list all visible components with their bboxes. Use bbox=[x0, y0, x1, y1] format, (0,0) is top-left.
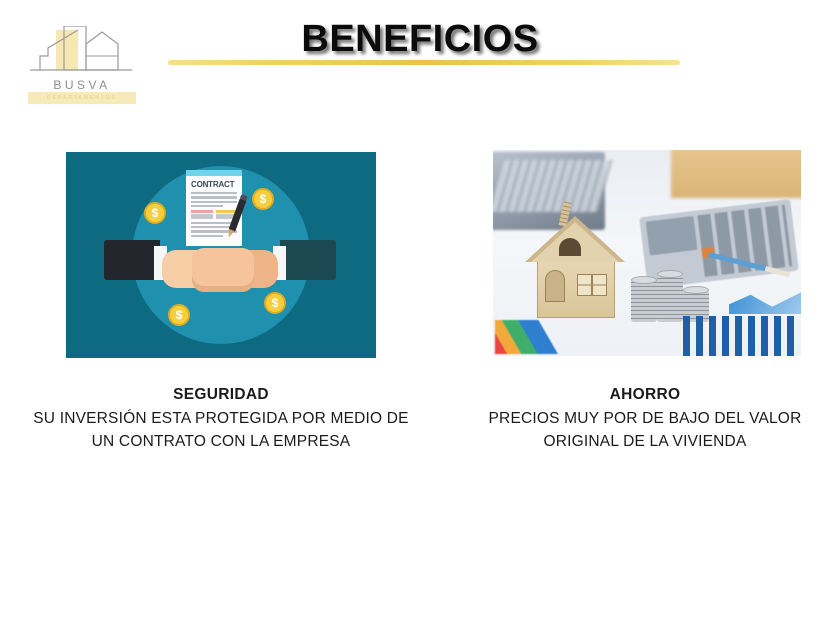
model-house-icon bbox=[525, 208, 625, 320]
coin-stack bbox=[657, 274, 683, 322]
title-underline-rule bbox=[168, 60, 680, 65]
contract-field-row bbox=[191, 210, 237, 218]
contract-document-label: CONTRACT bbox=[191, 180, 237, 189]
seguridad-heading: SEGURIDAD bbox=[28, 386, 414, 404]
wood-board bbox=[671, 150, 801, 198]
colored-chart-paper bbox=[495, 320, 577, 354]
page-title: BENEFICIOS bbox=[0, 18, 840, 61]
logo-wordmark: BUSVA bbox=[22, 78, 142, 92]
seguridad-body: SU INVERSIÓN ESTA PROTEGIDA POR MEDIO DE… bbox=[28, 408, 414, 454]
contract-field bbox=[191, 210, 213, 218]
coin-stack bbox=[631, 280, 657, 322]
contract-text-line bbox=[191, 201, 237, 203]
seguridad-caption: SEGURIDAD SU INVERSIÓN ESTA PROTEGIDA PO… bbox=[28, 386, 414, 454]
logo-tagline: DEPARTAMENTOS bbox=[28, 92, 136, 104]
dollar-coin-icon: $ bbox=[144, 202, 166, 224]
dollar-coin-icon: $ bbox=[264, 292, 286, 314]
dollar-coin-icon: $ bbox=[168, 304, 190, 326]
contract-document-icon: CONTRACT bbox=[186, 170, 242, 246]
dollar-coin-icon: $ bbox=[252, 188, 274, 210]
handshake-grip bbox=[192, 248, 254, 292]
contract-text-line bbox=[191, 205, 223, 207]
seguridad-image: CONTRACT $ $ bbox=[66, 152, 376, 358]
slide-canvas: BUSVA DEPARTAMENTOS BENEFICIOS CONTRACT bbox=[0, 0, 840, 630]
contract-text-line bbox=[191, 235, 223, 237]
blue-bar-chart-paper bbox=[683, 316, 795, 356]
ahorro-heading: AHORRO bbox=[452, 386, 838, 404]
ahorro-body: PRECIOS MUY POR DE BAJO DEL VALOR ORIGIN… bbox=[452, 408, 838, 454]
contract-text-line bbox=[191, 192, 237, 194]
ahorro-image bbox=[493, 150, 801, 356]
contract-text-line bbox=[191, 196, 237, 198]
ahorro-caption: AHORRO PRECIOS MUY POR DE BAJO DEL VALOR… bbox=[452, 386, 838, 454]
